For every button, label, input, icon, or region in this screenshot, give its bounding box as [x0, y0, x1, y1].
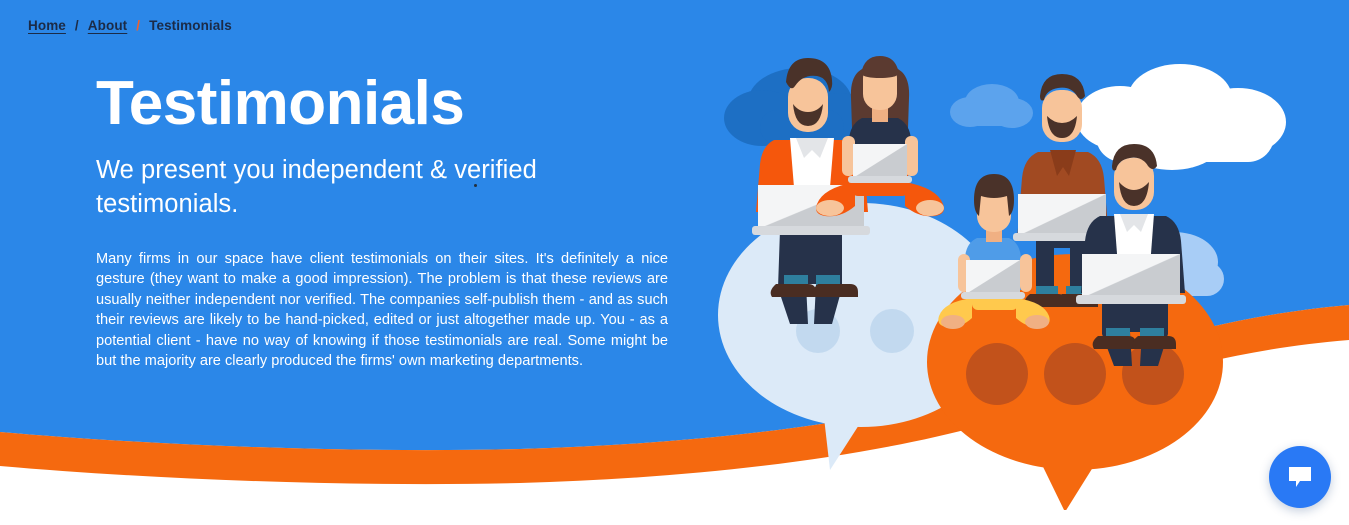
page-title: Testimonials	[96, 68, 676, 140]
cloud-white-large	[1076, 64, 1286, 170]
people-speech-bubbles-illustration	[700, 40, 1349, 510]
breadcrumb-item-about[interactable]: About	[88, 18, 127, 33]
cloud-mid-blue-small	[950, 84, 1033, 128]
breadcrumb-separator-1: /	[75, 18, 79, 33]
breadcrumb-item-testimonials: Testimonials	[149, 18, 232, 33]
breadcrumb-item-home[interactable]: Home	[28, 18, 66, 33]
chat-bubble-icon	[1287, 465, 1313, 489]
page-root: Home / About / Testimonials Testimonials…	[0, 0, 1349, 525]
hero-body-text: Many firms in our space have client test…	[96, 249, 668, 371]
decorative-dot	[474, 184, 477, 187]
breadcrumb-separator-2: /	[136, 18, 140, 33]
breadcrumb: Home / About / Testimonials	[28, 18, 232, 33]
bubble-dot-3	[966, 343, 1028, 405]
chat-widget-button[interactable]	[1269, 446, 1331, 508]
page-subtitle: We present you independent & verified te…	[96, 153, 676, 221]
hero-content: Testimonials We present you independent …	[96, 68, 676, 371]
bubble-dot-2	[870, 309, 914, 353]
bubble-dot-4	[1044, 343, 1106, 405]
